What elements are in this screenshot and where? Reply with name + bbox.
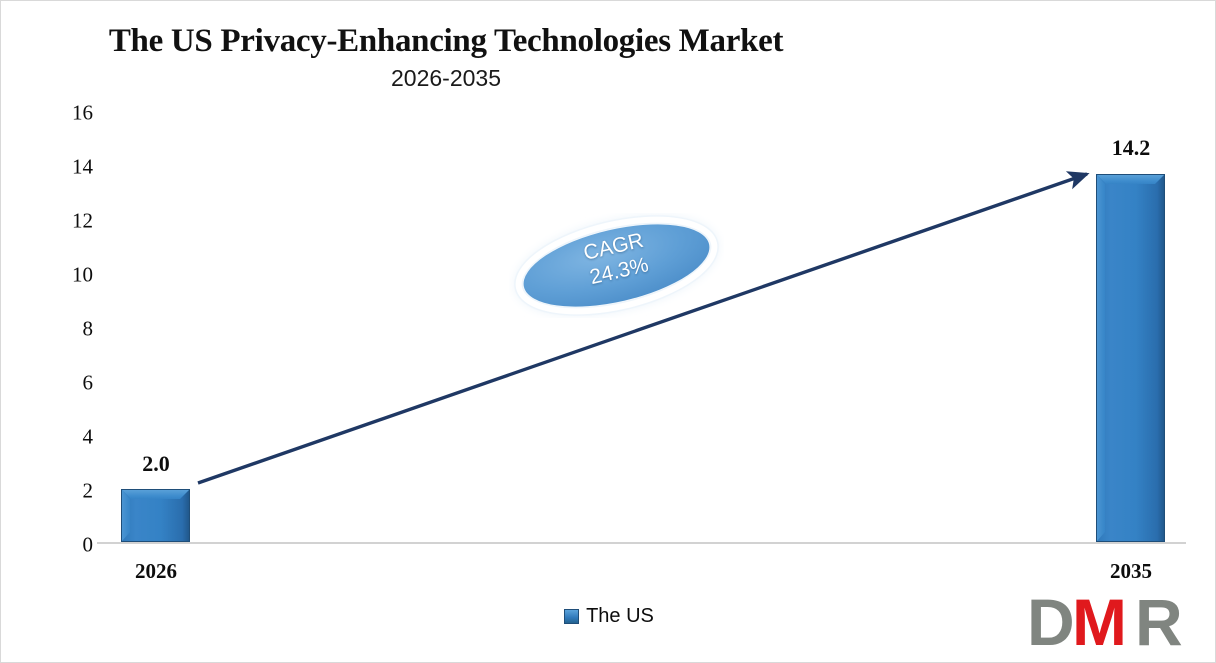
x-axis-line [97, 542, 1186, 544]
y-tick-label: 12 [49, 211, 93, 232]
bar-value-label-2026: 2.0 [111, 451, 201, 477]
bar-2026[interactable] [121, 489, 190, 542]
y-tick-label: 14 [49, 157, 93, 178]
legend-swatch-icon [564, 609, 579, 624]
legend-item-the-us[interactable]: The US [564, 605, 654, 628]
y-tick-label: 0 [49, 535, 93, 556]
x-tick-label-2026: 2026 [111, 559, 201, 584]
x-tick-label-2035: 2035 [1085, 559, 1177, 584]
dmr-logo: D R M [1029, 589, 1207, 655]
chart-subtitle: 2026-2035 [1, 65, 891, 92]
logo-letter-d: D [1029, 589, 1075, 655]
y-tick-label: 8 [49, 319, 93, 340]
y-tick-label: 10 [49, 265, 93, 286]
y-tick-label: 2 [49, 481, 93, 502]
legend-label: The US [586, 605, 654, 628]
chart-title: The US Privacy-Enhancing Technologies Ma… [1, 23, 891, 60]
cagr-callout: CAGR 24.3% [509, 213, 724, 318]
bar-value-label-2035: 14.2 [1085, 135, 1177, 161]
logo-letter-r: R [1135, 589, 1183, 655]
y-tick-label: 6 [49, 373, 93, 394]
y-tick-label: 4 [49, 427, 93, 448]
y-axis: 0 2 4 6 8 10 12 14 16 [49, 113, 93, 545]
chart-container: The US Privacy-Enhancing Technologies Ma… [0, 0, 1216, 663]
bar-2035[interactable] [1096, 174, 1165, 542]
y-tick-label: 16 [49, 103, 93, 124]
logo-letter-m: M [1072, 589, 1127, 655]
